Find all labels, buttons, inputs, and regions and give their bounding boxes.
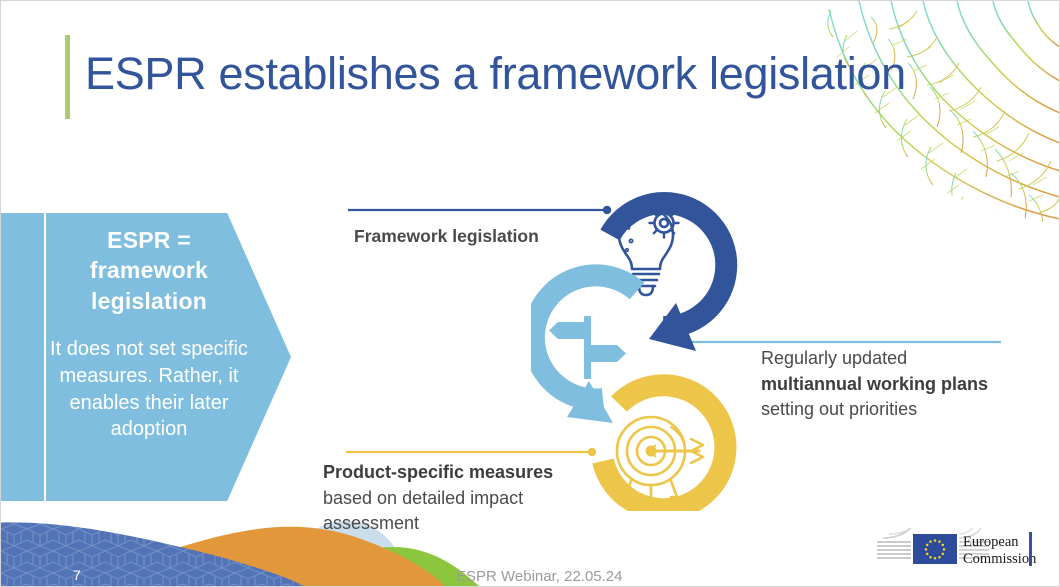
page-number: 7 — [73, 567, 81, 583]
decor-hill-blue — [1, 522, 307, 587]
ec-line-1: European — [963, 534, 1036, 551]
title-accent-bar — [65, 35, 70, 119]
ec-logo-rule — [1029, 532, 1032, 566]
label-working-plans: Regularly updated multiannual working pl… — [761, 346, 1011, 423]
decor-hill-green — [301, 547, 481, 587]
label-wp-part2: setting out priorities — [761, 399, 917, 419]
european-commission-wordmark: European Commission — [963, 534, 1036, 568]
espr-callout: ESPR = framework legislation It does not… — [49, 225, 249, 443]
label-framework-legislation: Framework legislation — [354, 226, 539, 247]
callout-heading: ESPR = framework legislation — [49, 225, 249, 316]
ec-line-2: Commission — [963, 551, 1036, 568]
diagram-node-product-measures — [603, 385, 725, 509]
callout-divider — [44, 213, 46, 501]
label-product-measures: Product-specific measures based on detai… — [323, 460, 598, 537]
label-wp-part1: Regularly updated — [761, 348, 907, 368]
signpost-icon — [549, 316, 626, 379]
footer-note: ESPR Webinar, 22.05.24 — [456, 568, 623, 585]
label-product-bold: Product-specific measures — [323, 462, 553, 482]
slide: ESPR establishes a framework legislation… — [0, 0, 1060, 587]
callout-body: It does not set specific measures. Rathe… — [49, 336, 249, 443]
label-product-plain: based on detailed impact assessment — [323, 488, 523, 534]
target-arrow-icon — [617, 417, 703, 497]
label-wp-bold: multiannual working plans — [761, 374, 988, 394]
cycle-diagram — [531, 161, 781, 511]
page-title: ESPR establishes a framework legislation — [85, 49, 906, 99]
